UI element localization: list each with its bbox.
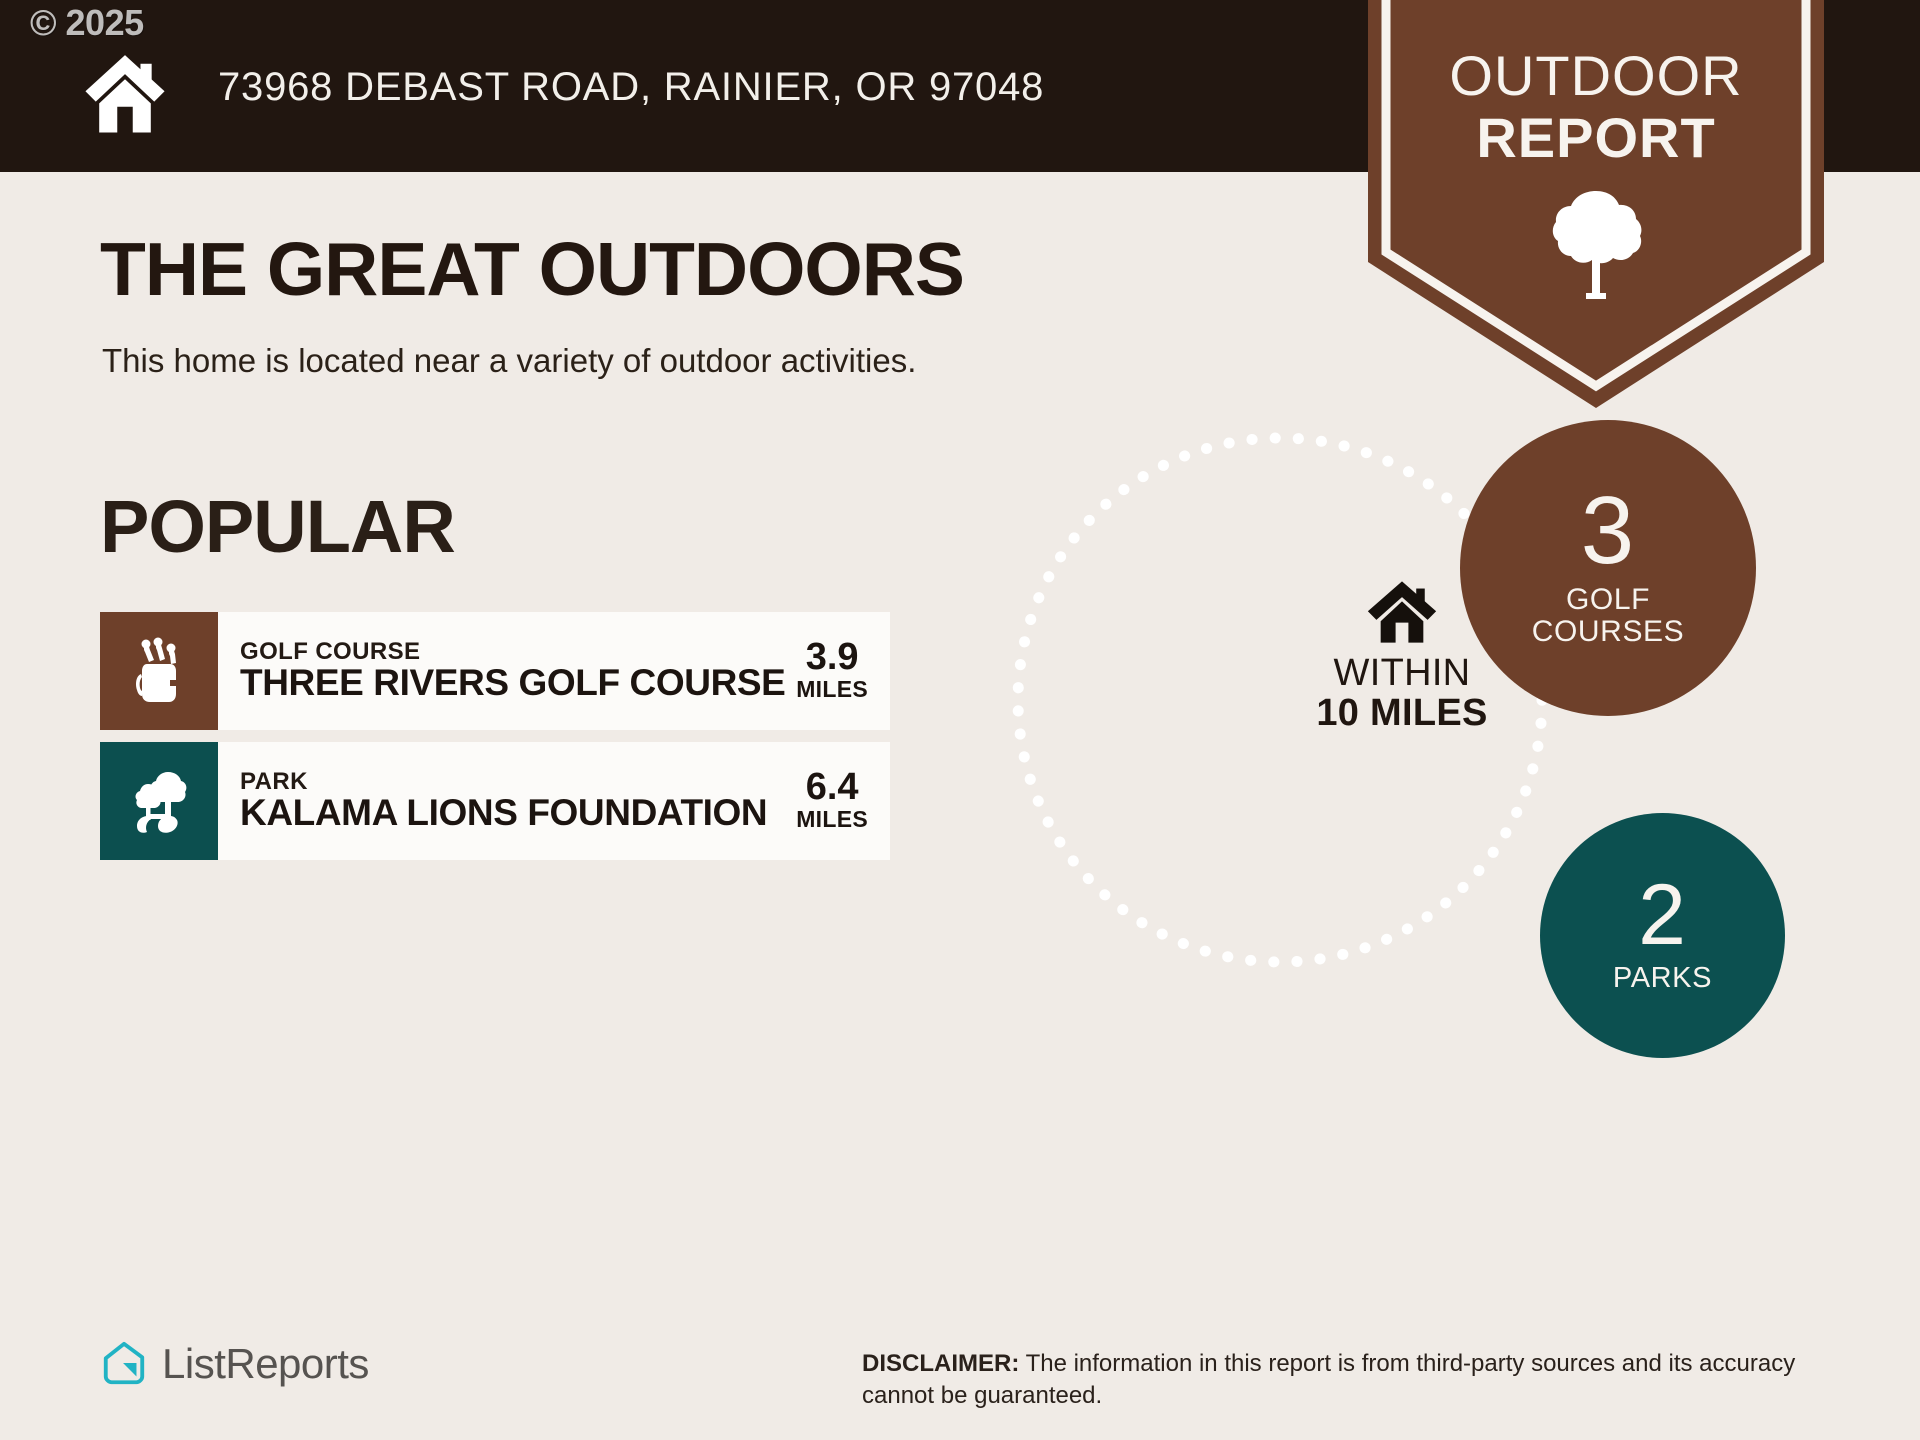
listreports-logo[interactable]: ListReports	[100, 1340, 369, 1388]
stat-circle-parks[interactable]: 2 PARKS	[1540, 813, 1785, 1058]
stat-label: PARKS	[1613, 963, 1712, 994]
poi-category: GOLF COURSE	[240, 639, 785, 664]
poi-distance-value: 3.9	[806, 638, 859, 676]
golf-bag-icon	[127, 636, 191, 706]
page-subtitle: This home is located near a variety of o…	[102, 342, 916, 380]
disclaimer-label: DISCLAIMER:	[862, 1350, 1019, 1377]
proximity-infographic: WITHIN 10 MILES 3 GOLF COURSES 2 PARKS	[1000, 420, 1850, 1140]
listreports-logo-text: ListReports	[162, 1340, 369, 1388]
poi-category: PARK	[240, 769, 767, 794]
popular-list: GOLF COURSE THREE RIVERS GOLF COURSE 3.9…	[100, 612, 890, 872]
stat-count: 3	[1581, 487, 1635, 575]
badge-line-1: OUTDOOR	[1368, 48, 1824, 104]
poi-text: GOLF COURSE THREE RIVERS GOLF COURSE	[218, 612, 788, 730]
disclaimer: DISCLAIMER: The information in this repo…	[862, 1348, 1862, 1411]
poi-distance-unit: MILES	[796, 806, 868, 834]
section-heading-popular: POPULAR	[100, 490, 455, 564]
poi-name: THREE RIVERS GOLF COURSE	[240, 664, 785, 703]
poi-name: KALAMA LIONS FOUNDATION	[240, 794, 767, 833]
list-item[interactable]: PARK KALAMA LIONS FOUNDATION 6.4 MILES	[100, 742, 890, 860]
golf-bag-icon-container	[100, 612, 218, 730]
poi-text: PARK KALAMA LIONS FOUNDATION	[218, 742, 788, 860]
within-label-line2: 10 MILES	[1272, 692, 1532, 736]
poi-distance-value: 6.4	[806, 768, 859, 806]
house-icon	[82, 50, 168, 136]
tree-icon	[1546, 185, 1646, 305]
poi-distance-unit: MILES	[796, 676, 868, 704]
outdoor-report-badge: OUTDOOR REPORT	[1368, 0, 1824, 408]
page-title: THE GREAT OUTDOORS	[100, 232, 964, 307]
poi-distance: 3.9 MILES	[788, 612, 890, 730]
stat-label-line2: COURSES	[1532, 616, 1685, 648]
list-item[interactable]: GOLF COURSE THREE RIVERS GOLF COURSE 3.9…	[100, 612, 890, 730]
copyright-watermark: © 2025	[30, 2, 144, 44]
poi-distance: 6.4 MILES	[788, 742, 890, 860]
listreports-house-icon	[100, 1340, 148, 1388]
house-icon	[1366, 580, 1438, 644]
stat-count: 2	[1638, 876, 1687, 955]
stat-label-line1: GOLF	[1532, 584, 1685, 616]
park-trees-icon-container	[100, 742, 218, 860]
park-trees-icon	[127, 766, 191, 836]
stat-label: GOLF COURSES	[1532, 584, 1685, 649]
property-address: 73968 DEBAST ROAD, RAINIER, OR 97048	[218, 65, 1044, 110]
stat-circle-golf-courses[interactable]: 3 GOLF COURSES	[1460, 420, 1756, 716]
badge-line-2: REPORT	[1368, 110, 1824, 166]
